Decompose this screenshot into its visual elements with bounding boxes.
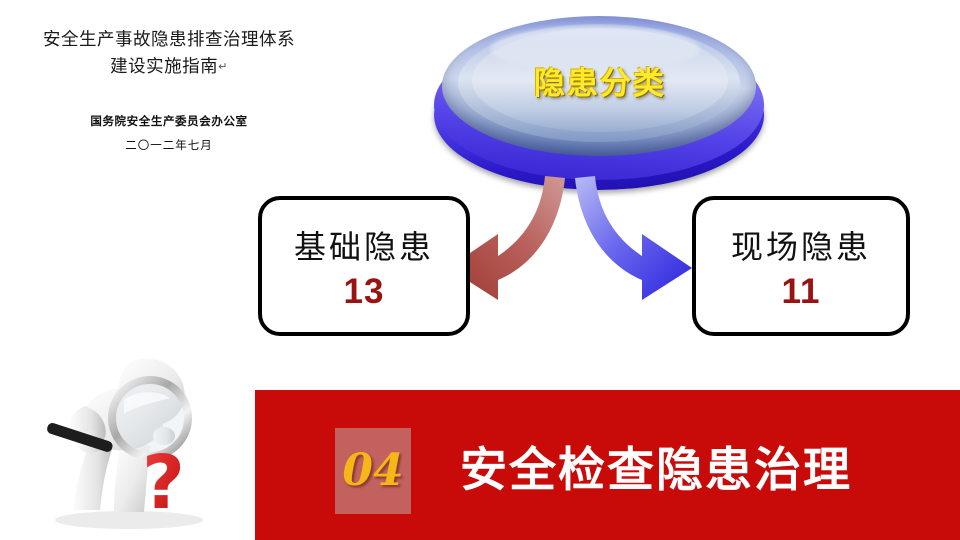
section-title: 安全检查隐患治理: [460, 428, 852, 514]
document-issuer: 国务院安全生产委员会办公室: [14, 113, 324, 129]
section-number: 04: [335, 428, 411, 514]
question-mark-icon: ?: [142, 440, 185, 526]
document-title-line2-text: 建设实施指南: [110, 56, 218, 76]
category-box-right[interactable]: 现场隐患 11: [692, 196, 910, 336]
curved-arrow-right-icon: [575, 176, 692, 300]
question-mark-glyph: ?: [142, 440, 185, 526]
document-title-line2: 建设实施指南↵: [14, 53, 324, 80]
document-title-line1: 安全生产事故隐患排查治理体系: [14, 26, 324, 53]
disc-label: 隐患分类: [428, 58, 772, 103]
inspector-figure: ?: [24, 344, 249, 540]
classification-disc: 隐患分类: [428, 12, 772, 194]
section-number-box: 04: [335, 428, 411, 514]
category-count-right: 11: [696, 272, 906, 312]
category-name-left: 基础隐患: [262, 222, 466, 268]
document-header: 安全生产事故隐患排查治理体系 建设实施指南↵ 国务院安全生产委员会办公室 二〇一…: [14, 26, 324, 153]
category-box-left[interactable]: 基础隐患 13: [258, 196, 470, 336]
document-date: 二〇一二年七月: [14, 137, 324, 153]
pilcrow-icon: ↵: [218, 61, 228, 73]
inspector-figure-svg: ?: [24, 344, 249, 540]
slide-canvas: 安全生产事故隐患排查治理体系 建设实施指南↵ 国务院安全生产委员会办公室 二〇一…: [0, 0, 960, 540]
category-name-right: 现场隐患: [696, 222, 906, 268]
category-count-left: 13: [262, 272, 466, 312]
section-banner: 04 安全检查隐患治理: [255, 390, 960, 540]
